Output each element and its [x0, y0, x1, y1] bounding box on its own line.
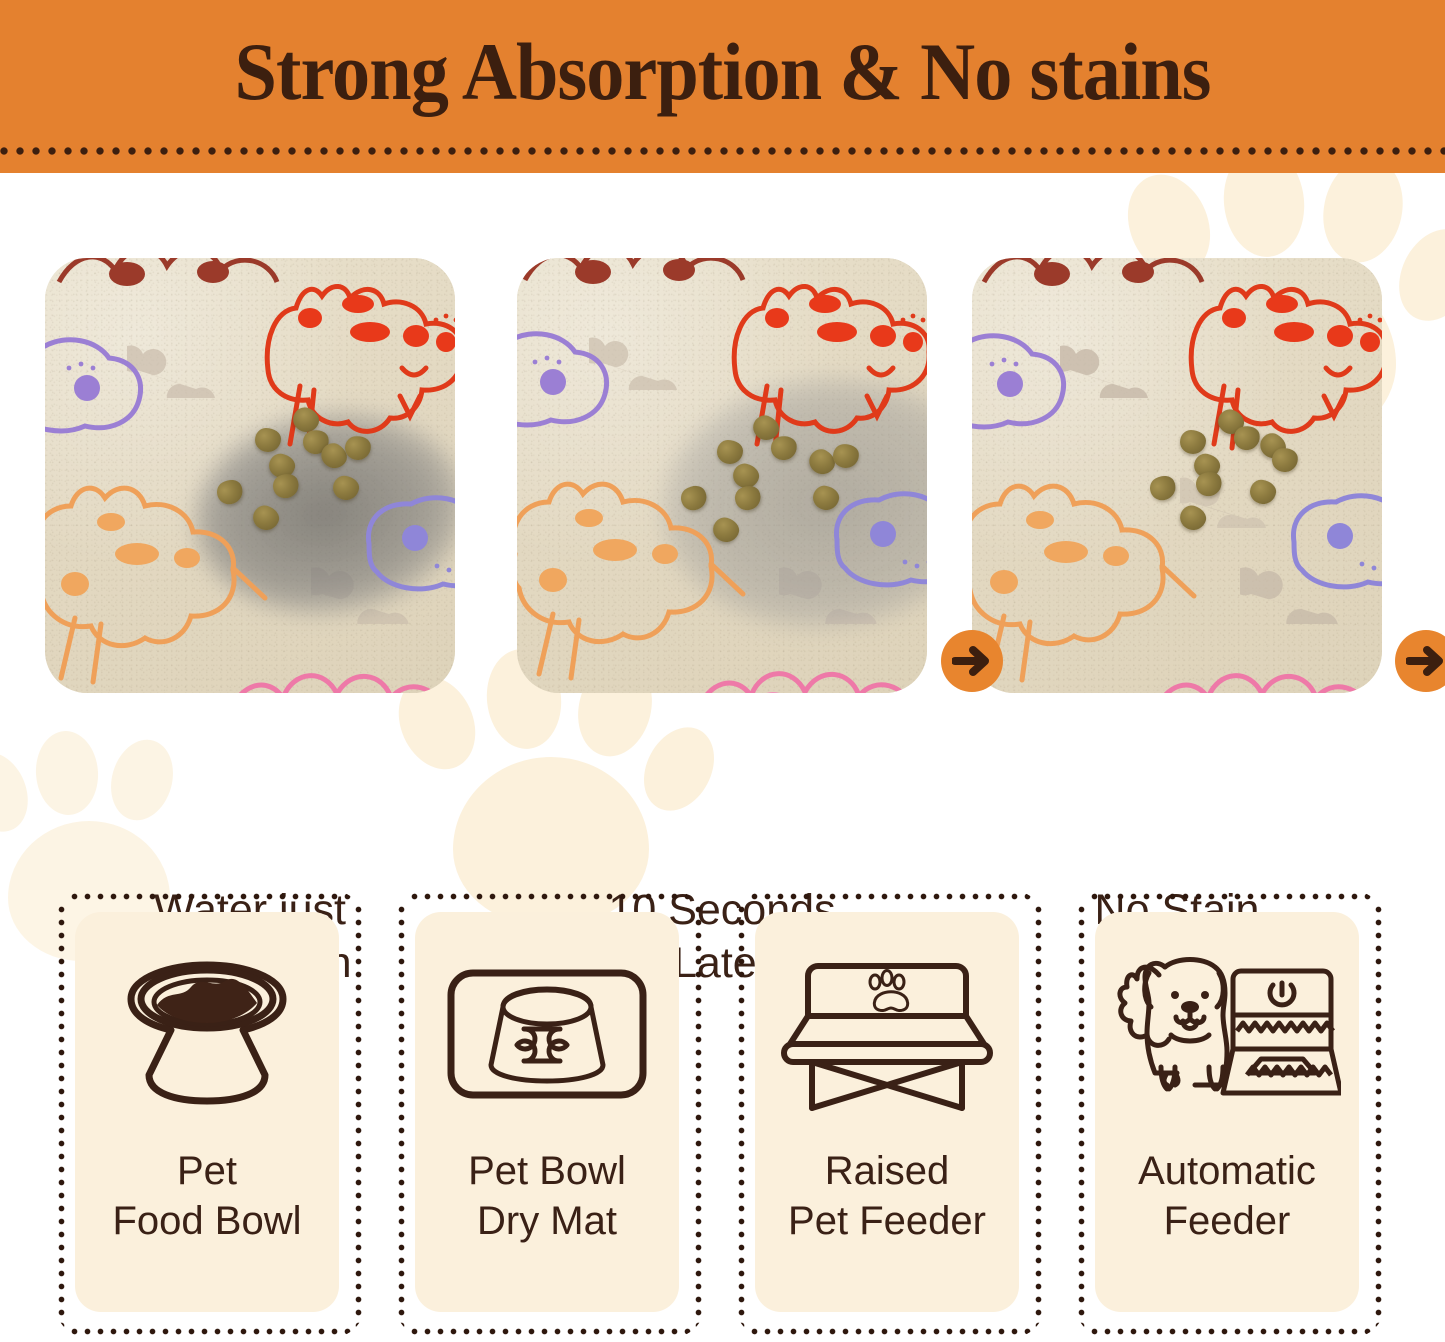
pet-bowl-dry-mat-icon — [437, 916, 657, 1144]
demo-photo-step-1 — [45, 258, 455, 693]
dog-doodle-purple — [831, 482, 927, 592]
header-banner: Strong Absorption & No stains — [0, 0, 1445, 173]
raised-pet-feeder-icon — [776, 916, 998, 1144]
card-label-line: Pet — [113, 1146, 302, 1196]
automatic-feeder-icon — [1113, 916, 1341, 1144]
card-panel: Automatic Feeder — [1095, 912, 1359, 1312]
card-label: Automatic Feeder — [1138, 1146, 1316, 1246]
feature-card-automatic-feeder[interactable]: Automatic Feeder — [1075, 890, 1385, 1338]
feature-card-pet-bowl-dry-mat[interactable]: Pet Bowl Dry Mat — [395, 890, 705, 1338]
card-label-line: Dry Mat — [468, 1196, 626, 1246]
bone-pattern-icon — [1060, 338, 1156, 398]
arrow-right-icon — [1395, 630, 1445, 692]
feature-card-raised-pet-feeder[interactable]: Raised Pet Feeder — [735, 890, 1045, 1338]
card-label: Raised Pet Feeder — [788, 1146, 986, 1246]
dog-doodle-purple — [972, 326, 1070, 436]
feature-card-pet-food-bowl[interactable]: Pet Food Bowl — [55, 890, 365, 1338]
demo-photo-step-2 — [517, 258, 927, 693]
dog-doodle-pink — [1150, 646, 1382, 693]
dog-doodle-pink — [693, 644, 927, 693]
absorption-demo-row: Water just dripped on 10 Seconds Later N… — [0, 173, 1445, 713]
dog-doodle-purple — [1288, 484, 1382, 594]
dog-doodle-purple — [517, 324, 613, 434]
card-label-line: Food Bowl — [113, 1196, 302, 1246]
dog-doodle-darkred — [521, 258, 781, 300]
compatibility-cards-row: Pet Food Bowl Pet Bowl Dry Mat — [0, 890, 1445, 1342]
card-panel: Raised Pet Feeder — [755, 912, 1019, 1312]
dog-doodle-pink — [225, 646, 455, 693]
card-label: Pet Food Bowl — [113, 1146, 302, 1246]
card-panel: Pet Food Bowl — [75, 912, 339, 1312]
card-label-line: Automatic — [1138, 1146, 1316, 1196]
card-panel: Pet Bowl Dry Mat — [415, 912, 679, 1312]
arrow-right-icon — [941, 630, 1003, 692]
card-label-line: Pet Feeder — [788, 1196, 986, 1246]
dog-doodle-darkred — [980, 258, 1240, 302]
dog-doodle-darkred — [55, 258, 315, 302]
dog-doodle-purple — [45, 330, 147, 440]
card-label-line: Raised — [788, 1146, 986, 1196]
card-label: Pet Bowl Dry Mat — [468, 1146, 626, 1246]
pet-food-bowl-icon — [97, 916, 317, 1144]
card-label-line: Pet Bowl — [468, 1146, 626, 1196]
demo-photo-step-3 — [972, 258, 1382, 693]
card-label-line: Feeder — [1138, 1196, 1316, 1246]
header-dotted-divider — [0, 147, 1445, 159]
page-title: Strong Absorption & No stains — [51, 26, 1395, 118]
dog-doodle-purple — [363, 486, 455, 596]
